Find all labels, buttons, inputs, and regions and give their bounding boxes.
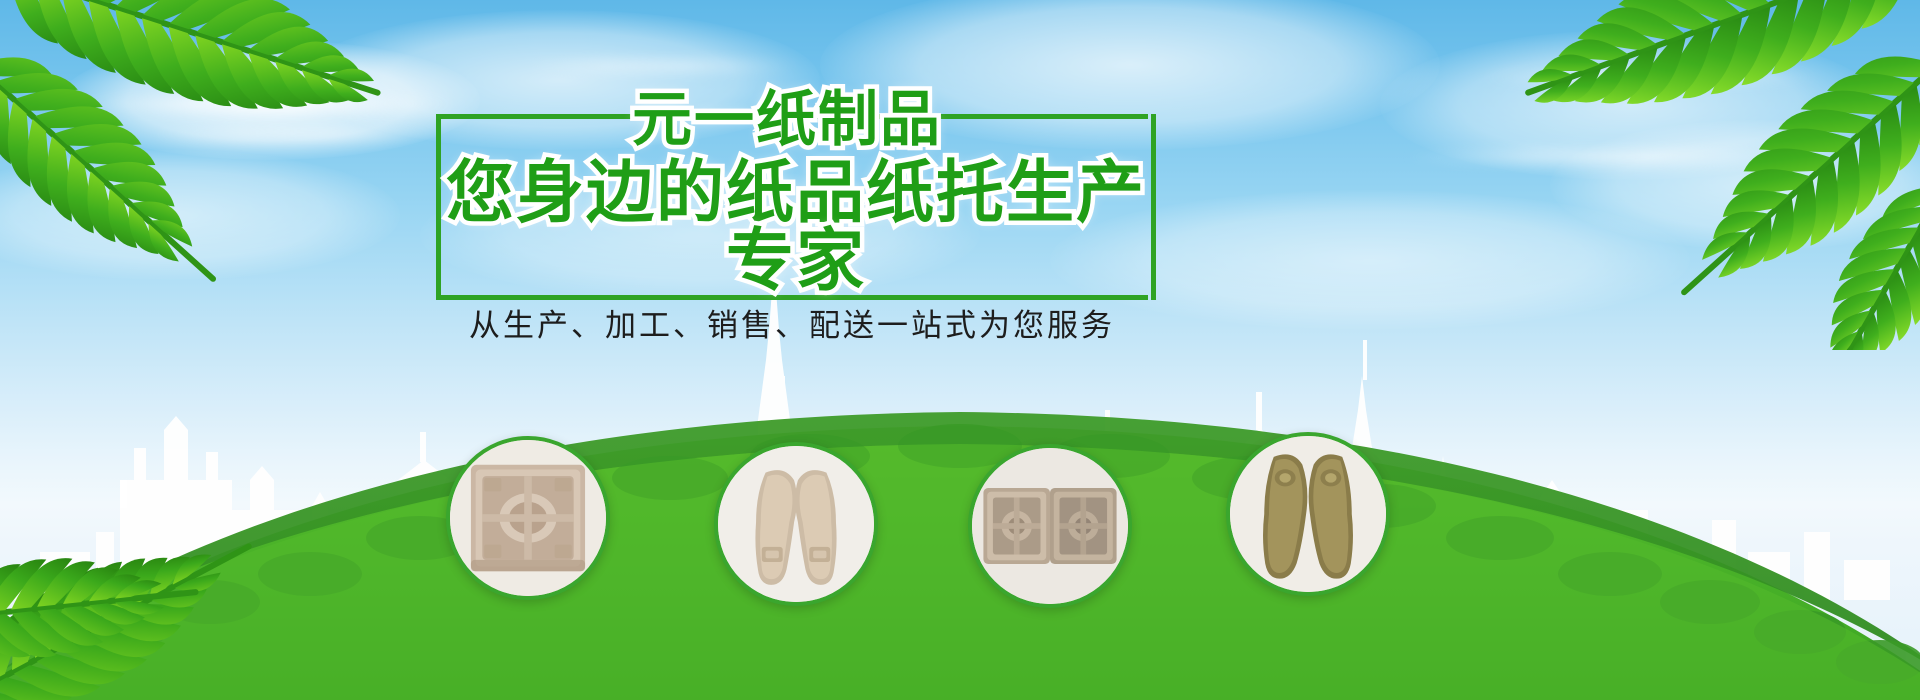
decorative-frame-right-rail [1151,114,1156,300]
palm-frond-top-right [1330,0,1920,350]
product-circle-molded-pulp-double-tray[interactable] [968,444,1132,608]
molded-pulp-shoe-tree-pair-photo [718,446,874,602]
headline-line-2: 您身边的纸品纸托生产专家 [444,160,1148,296]
molded-pulp-shoe-form-pair-photo [1230,436,1386,592]
headline: 元一纸制品 您身边的纸品纸托生产专家 [436,88,1148,296]
promotional-banner: 元一纸制品 您身边的纸品纸托生产专家 从生产、加工、销售、配送一站式为您服务 [0,0,1920,700]
subtitle: 从生产、加工、销售、配送一站式为您服务 [436,300,1148,345]
product-showcase [0,436,1920,626]
molded-pulp-square-tray-photo [450,440,606,596]
product-circle-molded-pulp-shoe-tree-pair[interactable] [714,442,878,606]
headline-line-1: 元一纸制品 [632,88,1148,150]
headline-block: 元一纸制品 您身边的纸品纸托生产专家 从生产、加工、销售、配送一站式为您服务 [436,88,1156,303]
molded-pulp-double-tray-photo [972,448,1128,604]
product-circle-molded-pulp-square-tray[interactable] [446,436,610,600]
cloud-wisp [520,60,800,72]
product-circle-molded-pulp-shoe-form-pair[interactable] [1226,432,1390,596]
